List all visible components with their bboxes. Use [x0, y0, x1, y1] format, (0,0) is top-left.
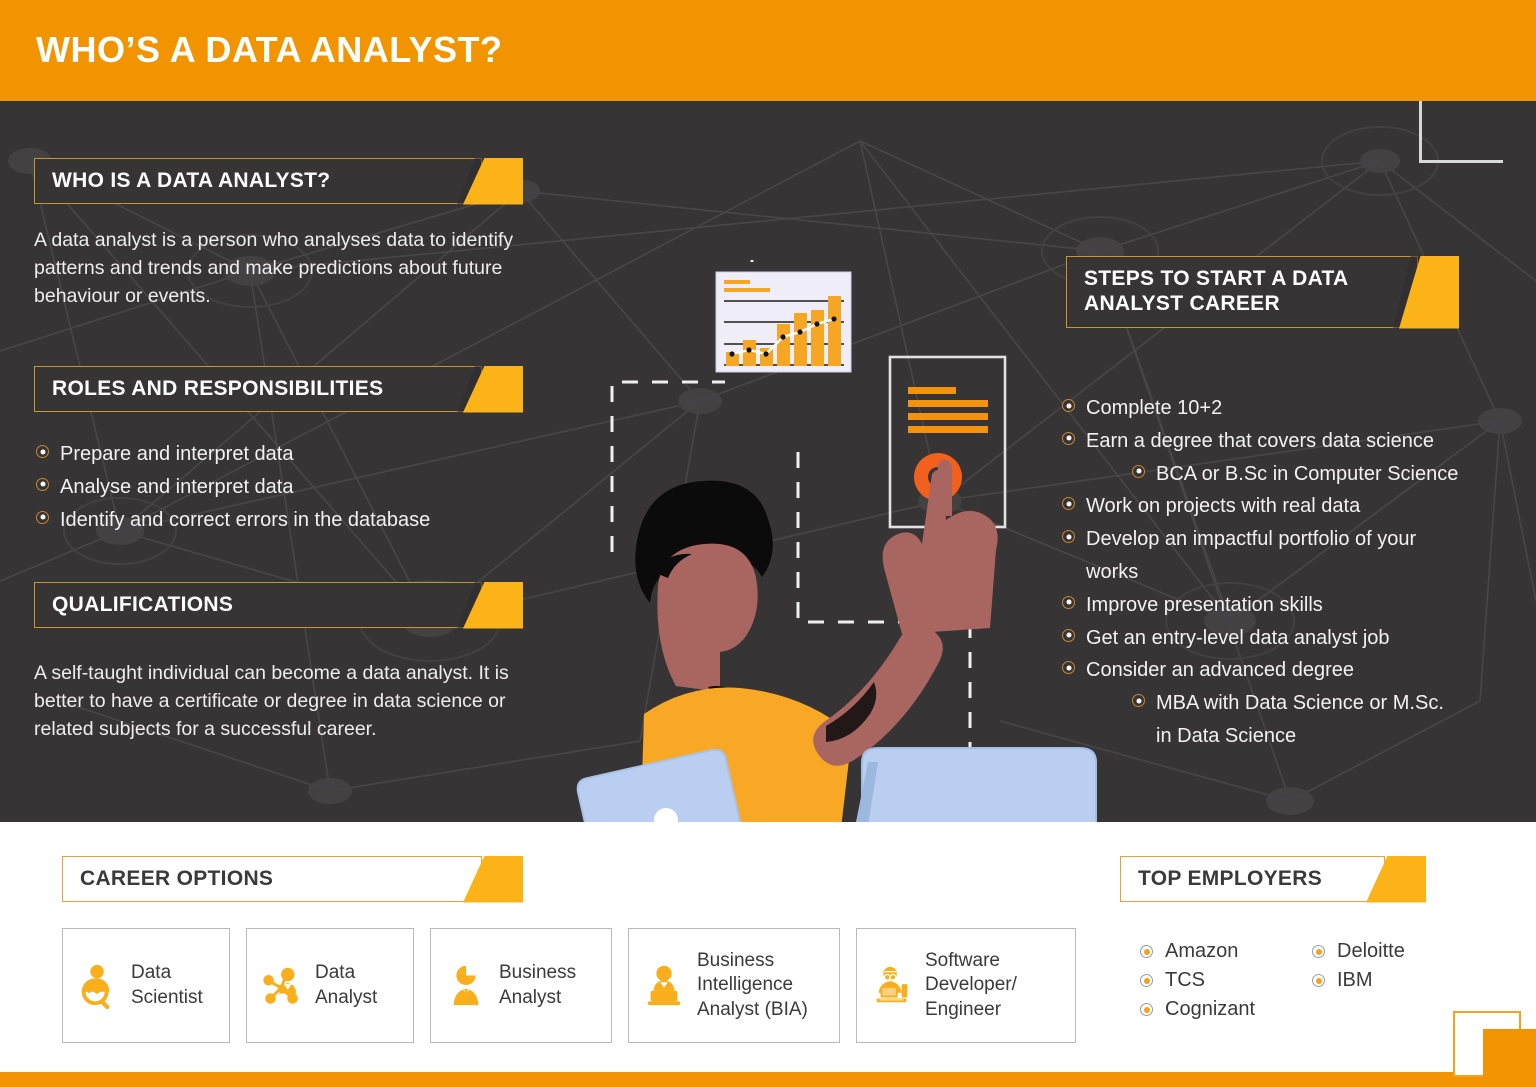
data-analyst-illustration [540, 202, 1100, 822]
roles-item-1: Analyse and interpret data [60, 471, 294, 504]
steps-item-3: Work on projects with real data [1086, 490, 1360, 523]
list-item: Amazon [1140, 940, 1255, 963]
career-card-bia[interactable]: Business Intelligence Analyst (BIA) [628, 928, 840, 1043]
list-item: Complete 10+2 [1062, 392, 1528, 425]
bullet-icon [1062, 399, 1075, 412]
corner-bracket-decoration [1419, 101, 1503, 163]
career-card-label: Data Scientist [131, 961, 217, 1010]
career-card-data-analyst[interactable]: Data Analyst [246, 928, 414, 1043]
list-item: Earn a degree that covers data science [1062, 425, 1528, 458]
bullet-icon [1312, 974, 1325, 987]
footer-orange-strip [0, 1072, 1490, 1087]
bullet-icon [1132, 694, 1145, 707]
list-item: Analyse and interpret data [36, 471, 526, 504]
bullet-icon [36, 445, 49, 458]
career-card-data-scientist[interactable]: Data Scientist [62, 928, 230, 1043]
steps-item-7: Consider an advanced degree [1086, 654, 1354, 687]
badge-label-career-options: CAREER OPTIONS [63, 867, 273, 892]
list-item-sub: MBA with Data Science or M.Sc. in Data S… [1062, 687, 1528, 753]
main-dark-panel: WHO IS A DATA ANALYST? A data analyst is… [0, 101, 1536, 822]
tablet-device [578, 750, 747, 822]
list-item-sub: BCA or B.Sc in Computer Science [1062, 458, 1528, 491]
infographic-page: WHO’S A DATA ANALYST? [0, 0, 1536, 1087]
badge-who-is-a-data-analyst: WHO IS A DATA ANALYST? [34, 158, 482, 204]
bullet-icon [1062, 629, 1075, 642]
career-card-label: Software Developer/ Engineer [925, 949, 1063, 1022]
steps-item-8: MBA with Data Science or M.Sc. in Data S… [1156, 687, 1446, 753]
career-card-label: Business Analyst [499, 961, 599, 1010]
badge-top-employers: TOP EMPLOYERS [1120, 856, 1385, 902]
badge-tail [463, 856, 523, 903]
bullet-icon [1062, 596, 1075, 609]
badge-label-steps: STEPS TO START A DATA ANALYST CAREER [1067, 267, 1349, 317]
employer-3: Deloitte [1337, 940, 1405, 963]
badge-label-steps-line1: STEPS TO START A DATA [1084, 267, 1349, 290]
list-item: TCS [1140, 969, 1255, 992]
qualifications-body: A self-taught individual can become a da… [34, 660, 522, 744]
person-network-nodes-icon [259, 963, 305, 1009]
steps-item-5: Improve presentation skills [1086, 589, 1323, 622]
steps-item-2: BCA or B.Sc in Computer Science [1156, 458, 1458, 491]
badge-label-steps-line2: ANALYST CAREER [1084, 292, 1280, 315]
career-card-label: Data Analyst [315, 961, 401, 1010]
bullet-icon [1062, 530, 1075, 543]
person-laptop-icon [641, 963, 687, 1009]
bar-chart-card [716, 272, 851, 372]
badge-career-options: CAREER OPTIONS [62, 856, 482, 902]
bullet-icon [1062, 432, 1075, 445]
steps-item-0: Complete 10+2 [1086, 392, 1222, 425]
career-card-software-developer[interactable]: Software Developer/ Engineer [856, 928, 1076, 1043]
list-item: IBM [1312, 969, 1405, 992]
employer-2: Cognizant [1165, 998, 1255, 1021]
badge-steps-to-start-career: STEPS TO START A DATA ANALYST CAREER [1066, 256, 1418, 328]
bullet-icon [36, 478, 49, 491]
list-item: Cognizant [1140, 998, 1255, 1021]
employers-column-1: Amazon TCS Cognizant [1140, 940, 1255, 1027]
who-is-a-data-analyst-body: A data analyst is a person who analyses … [34, 227, 532, 311]
steps-item-4: Develop an impactful portfolio of your w… [1086, 523, 1466, 589]
corner-square-solid-decoration [1483, 1029, 1536, 1087]
employers-column-2: Deloitte IBM [1312, 940, 1405, 998]
bullet-icon [1062, 497, 1075, 510]
roles-list: Prepare and interpret data Analyse and i… [36, 438, 526, 536]
bullet-icon [1132, 465, 1145, 478]
employer-4: IBM [1337, 969, 1373, 992]
roles-item-2: Identify and correct errors in the datab… [60, 504, 430, 537]
list-item: Consider an advanced degree [1062, 654, 1528, 687]
laptop-device [840, 748, 1096, 822]
pointing-hand [883, 459, 998, 634]
person-magnifier-chart-icon [75, 963, 121, 1009]
employer-0: Amazon [1165, 940, 1238, 963]
bullet-icon [1312, 945, 1325, 958]
bullet-icon [1062, 661, 1075, 674]
career-card-label: Business Intelligence Analyst (BIA) [697, 949, 827, 1022]
steps-item-1: Earn a degree that covers data science [1086, 425, 1434, 458]
list-item: Improve presentation skills [1062, 589, 1528, 622]
person-pie-chart-icon [443, 963, 489, 1009]
employer-1: TCS [1165, 969, 1205, 992]
list-item: Prepare and interpret data [36, 438, 526, 471]
steps-item-6: Get an entry-level data analyst job [1086, 622, 1390, 655]
list-item: Get an entry-level data analyst job [1062, 622, 1528, 655]
list-item: Develop an impactful portfolio of your w… [1062, 523, 1528, 589]
badge-roles-and-responsibilities: ROLES AND RESPONSIBILITIES [34, 366, 482, 412]
badge-tail [1366, 856, 1426, 903]
badge-label-qualifications: QUALIFICATIONS [35, 593, 233, 618]
person-desktop-icon [869, 963, 915, 1009]
steps-list: Complete 10+2 Earn a degree that covers … [1062, 392, 1528, 753]
page-header: WHO’S A DATA ANALYST? [0, 0, 1536, 101]
bullet-icon [36, 511, 49, 524]
list-item: Identify and correct errors in the datab… [36, 504, 526, 537]
page-title: WHO’S A DATA ANALYST? [36, 29, 502, 71]
list-item: Deloitte [1312, 940, 1405, 963]
bullet-icon [1140, 1003, 1153, 1016]
career-card-business-analyst[interactable]: Business Analyst [430, 928, 612, 1043]
badge-qualifications: QUALIFICATIONS [34, 582, 482, 628]
list-item: Work on projects with real data [1062, 490, 1528, 523]
badge-label-roles: ROLES AND RESPONSIBILITIES [35, 377, 383, 402]
roles-item-0: Prepare and interpret data [60, 438, 294, 471]
badge-label-who: WHO IS A DATA ANALYST? [35, 169, 330, 194]
badge-label-top-employers: TOP EMPLOYERS [1121, 867, 1322, 892]
bullet-icon [1140, 945, 1153, 958]
bullet-icon [1140, 974, 1153, 987]
